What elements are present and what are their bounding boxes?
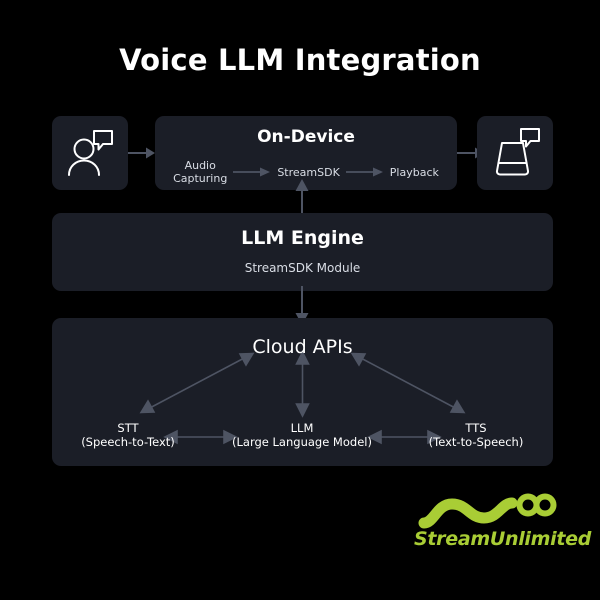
cloud-service-stt-name: STT [53, 421, 203, 435]
cloud-service-tts-name: TTS [401, 421, 551, 435]
arrow-capture-to-sdk [233, 167, 271, 177]
arrow-sdk-to-playback [346, 167, 384, 177]
on-device-title: On-Device [155, 127, 457, 147]
voice-llm-integration-diagram: Voice LLM Integration On-Device Audio Ca… [0, 0, 600, 600]
llm-engine-title: LLM Engine [52, 227, 553, 249]
person-speech-bubble-icon [52, 116, 128, 190]
input-endpoint-card [52, 116, 128, 190]
cloud-service-stt: STT (Speech-to-Text) [53, 421, 203, 449]
output-endpoint-card [477, 116, 553, 190]
pipeline-step-audio-capturing: Audio Capturing [173, 159, 227, 185]
llm-engine-subtitle: StreamSDK Module [52, 261, 553, 275]
cloud-service-llm-description: (Large Language Model) [227, 435, 377, 449]
pipeline-step-playback: Playback [390, 166, 439, 179]
cloud-service-llm-name: LLM [227, 421, 377, 435]
smart-speaker-speech-bubble-icon [477, 116, 553, 190]
wave-infinity-logo-icon [414, 492, 560, 532]
cloud-service-stt-description: (Speech-to-Text) [53, 435, 203, 449]
arrow-engine-to-ondevice [288, 178, 316, 218]
cloud-service-llm: LLM (Large Language Model) [227, 421, 377, 449]
cloud-service-tts-description: (Text-to-Speech) [401, 435, 551, 449]
arrow-input-to-ondevice [128, 146, 156, 160]
logo-wordmark: StreamUnlimited [414, 528, 560, 550]
llm-engine-card: LLM Engine StreamSDK Module [52, 213, 553, 291]
streamunlimited-logo: StreamUnlimited [414, 492, 560, 554]
cloud-service-tts: TTS (Text-to-Speech) [401, 421, 551, 449]
cloud-apis-card: Cloud APIs STT (Speech-to-Text) LLM (Lar… [52, 318, 553, 466]
pipeline-step-streamsdk: StreamSDK [277, 166, 339, 179]
cloud-apis-title: Cloud APIs [52, 336, 553, 358]
page-title: Voice LLM Integration [0, 43, 600, 77]
